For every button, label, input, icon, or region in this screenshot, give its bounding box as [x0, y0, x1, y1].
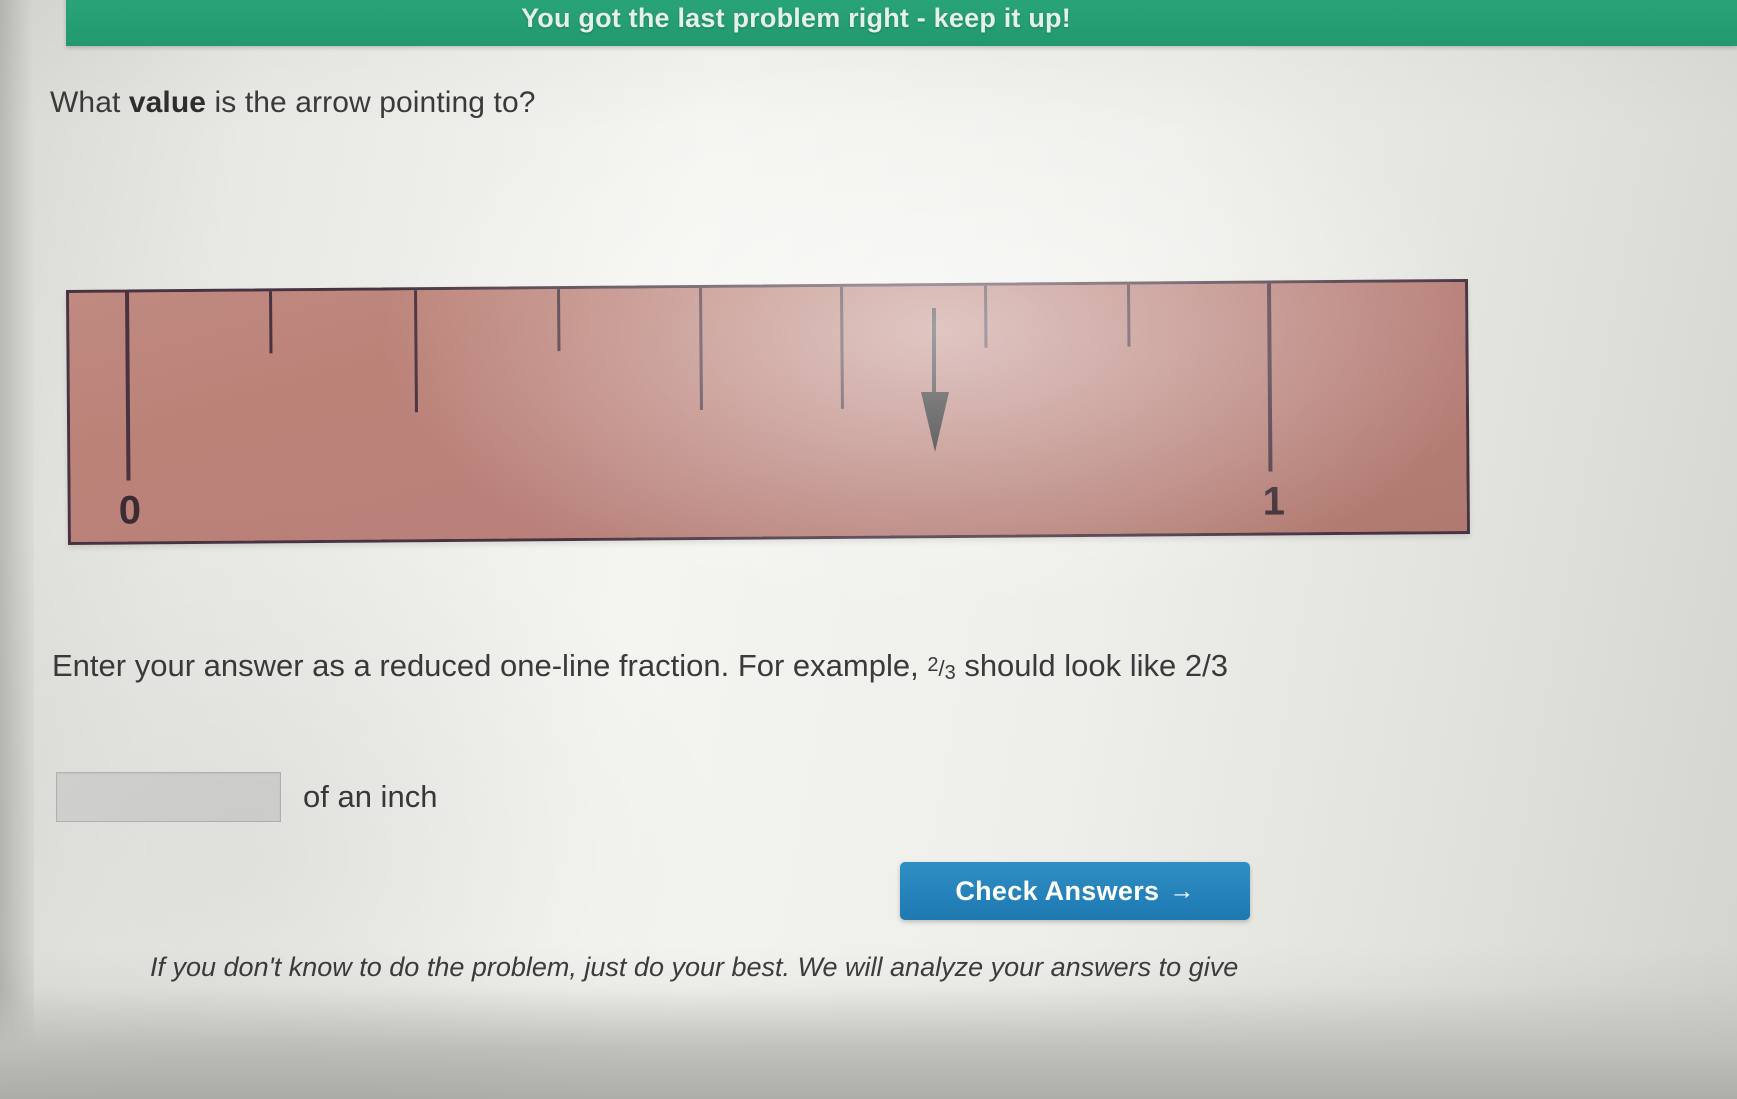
fraction-denominator: 3	[945, 662, 956, 684]
check-answers-button[interactable]: Check Answers →	[900, 862, 1250, 920]
ruler-tick-1-8	[269, 291, 272, 353]
ruler-tick-1	[1267, 284, 1272, 472]
answer-input[interactable]	[56, 772, 281, 822]
answer-row: of an inch	[56, 772, 437, 822]
page-bottom-edge	[0, 987, 1737, 1099]
screen-photo-background: You got the last problem right - keep it…	[0, 0, 1737, 1099]
ruler-label-zero: 0	[119, 488, 142, 533]
question-suffix: is the arrow pointing to?	[206, 86, 535, 119]
ruler-tick-6-8	[984, 286, 987, 348]
ruler-body: 0 1	[66, 279, 1470, 545]
right-arrow-icon: →	[1169, 877, 1194, 906]
down-arrow-icon	[921, 308, 947, 460]
question-emphasis: value	[129, 86, 206, 119]
ruler-diagram: 0 1	[0, 150, 1560, 570]
ruler-tick-3-8	[557, 289, 560, 351]
ruler-tick-2-8	[414, 290, 418, 412]
instruction-part2: should look like 2/3	[956, 648, 1228, 683]
ruler-tick-5-8	[840, 287, 844, 409]
instruction-part1: Enter your answer as a reduced one-line …	[52, 648, 927, 683]
status-banner: You got the last problem right - keep it…	[66, 0, 1737, 46]
check-answers-label: Check Answers	[955, 876, 1159, 907]
fraction-example: 2/3	[927, 656, 955, 681]
ruler-tick-4-8	[699, 288, 703, 410]
question-prompt: What value is the arrow pointing to?	[50, 86, 536, 120]
ruler-tick-0	[125, 293, 130, 481]
answer-unit-label: of an inch	[303, 779, 437, 815]
status-banner-message: You got the last problem right - keep it…	[66, 0, 1526, 46]
ruler-label-one: 1	[1263, 479, 1286, 524]
arrow-head	[921, 392, 949, 452]
footer-note: If you don't know to do the problem, jus…	[150, 952, 1238, 983]
answer-format-instruction: Enter your answer as a reduced one-line …	[52, 648, 1228, 685]
ruler-tick-7-8	[1127, 285, 1130, 347]
question-prefix: What	[50, 86, 129, 119]
fraction-numerator: 2	[927, 654, 938, 676]
